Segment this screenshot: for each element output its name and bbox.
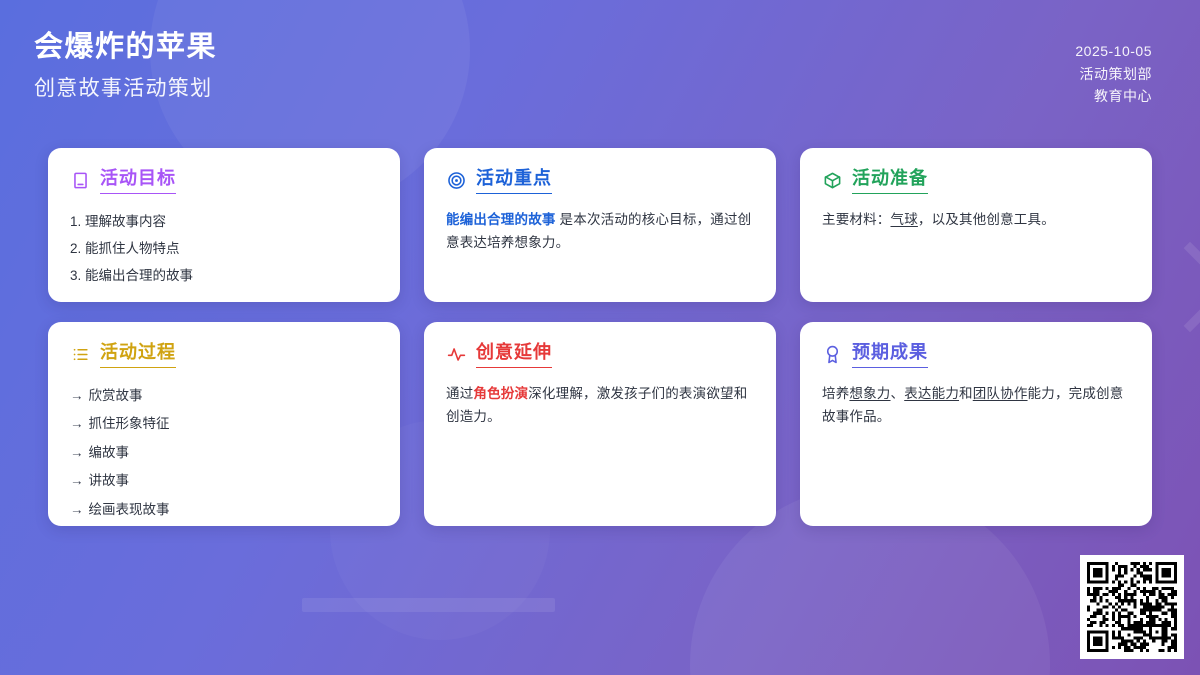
- meta-organization: 教育中心: [1075, 85, 1152, 108]
- list-item: →欣赏故事: [70, 382, 378, 411]
- card-body: 通过角色扮演深化理解，激发孩子们的表演欲望和创造力。: [446, 382, 754, 429]
- card-header: 活动准备: [822, 168, 1130, 194]
- card-header: 预期成果: [822, 342, 1130, 368]
- card-title: 活动过程: [100, 342, 176, 368]
- card-process[interactable]: 活动过程 →欣赏故事 →抓住形象特征 →编故事 →讲故事 →绘画表现故事: [48, 322, 400, 526]
- list-item-label: 绘画表现故事: [89, 502, 170, 517]
- underlined-term: 想象力: [849, 386, 890, 401]
- award-icon: [822, 344, 843, 365]
- body-text-3: 和: [959, 386, 973, 401]
- card-grid: 活动目标 1. 理解故事内容 2. 能抓住人物特点 3. 能编出合理的故事 活动…: [48, 148, 1152, 526]
- arrow-icon: →: [70, 473, 84, 488]
- target-icon: [446, 170, 467, 191]
- page-subtitle: 创意故事活动策划: [34, 75, 217, 102]
- list-item: 1. 理解故事内容: [70, 208, 378, 235]
- body-text-after: ，以及其他创意工具。: [918, 212, 1055, 227]
- meta-department: 活动策划部: [1075, 63, 1152, 86]
- card-objectives[interactable]: 活动目标 1. 理解故事内容 2. 能抓住人物特点 3. 能编出合理的故事: [48, 148, 400, 302]
- list-item-label: 编故事: [89, 445, 130, 460]
- activity-pulse-icon: [446, 344, 467, 365]
- book-icon: [70, 170, 91, 191]
- objectives-list: 1. 理解故事内容 2. 能抓住人物特点 3. 能编出合理的故事: [70, 208, 378, 289]
- card-outcomes[interactable]: 预期成果 培养想象力、表达能力和团队协作能力，完成创意故事作品。: [800, 322, 1152, 526]
- list-icon: [70, 344, 91, 365]
- underlined-term: 团队协作: [973, 386, 1028, 401]
- body-text-before: 通过: [446, 386, 473, 401]
- body-text-before: 主要材料：: [822, 212, 891, 227]
- meta-date: 2025-10-05: [1075, 40, 1152, 63]
- underlined-term: 气球: [891, 212, 918, 227]
- list-item: →编故事: [70, 439, 378, 468]
- list-item: →讲故事: [70, 467, 378, 496]
- card-title: 活动目标: [100, 168, 176, 194]
- chevron-right-icon: [1145, 242, 1200, 333]
- list-item: →抓住形象特征: [70, 410, 378, 439]
- card-body: 培养想象力、表达能力和团队协作能力，完成创意故事作品。: [822, 382, 1130, 429]
- header-title-group: 会爆炸的苹果 创意故事活动策划: [32, 28, 217, 102]
- list-item-label: 讲故事: [89, 473, 130, 488]
- slide-header: 会爆炸的苹果 创意故事活动策划 2025-10-05 活动策划部 教育中心: [0, 0, 1200, 128]
- card-header: 活动重点: [446, 168, 754, 194]
- package-icon: [822, 170, 843, 191]
- card-title: 活动准备: [852, 168, 928, 194]
- list-item: 3. 能编出合理的故事: [70, 262, 378, 289]
- page-title: 会爆炸的苹果: [34, 28, 217, 67]
- header-meta: 2025-10-05 活动策划部 教育中心: [1075, 28, 1152, 108]
- list-item: →绘画表现故事: [70, 496, 378, 525]
- process-list: →欣赏故事 →抓住形象特征 →编故事 →讲故事 →绘画表现故事: [70, 382, 378, 525]
- underlined-term: 表达能力: [904, 386, 959, 401]
- body-text-1: 培养: [822, 386, 849, 401]
- card-header: 活动目标: [70, 168, 378, 194]
- arrow-icon: →: [70, 416, 84, 431]
- decorative-bar: [302, 598, 555, 612]
- list-item-label: 抓住形象特征: [89, 416, 170, 431]
- highlight-text: 角色扮演: [473, 386, 528, 401]
- card-title: 创意延伸: [476, 342, 552, 368]
- qr-code-image: [1087, 562, 1177, 652]
- arrow-icon: →: [70, 388, 84, 403]
- qr-code[interactable]: [1080, 555, 1184, 659]
- list-item: 2. 能抓住人物特点: [70, 235, 378, 262]
- card-body: 主要材料：气球，以及其他创意工具。: [822, 208, 1130, 232]
- slide-root: 会爆炸的苹果 创意故事活动策划 2025-10-05 活动策划部 教育中心 活动…: [0, 0, 1200, 675]
- card-preparation[interactable]: 活动准备 主要材料：气球，以及其他创意工具。: [800, 148, 1152, 302]
- card-key-points[interactable]: 活动重点 能编出合理的故事 是本次活动的核心目标，通过创意表达培养想象力。: [424, 148, 776, 302]
- card-extension[interactable]: 创意延伸 通过角色扮演深化理解，激发孩子们的表演欲望和创造力。: [424, 322, 776, 526]
- card-title: 活动重点: [476, 168, 552, 194]
- card-body: 能编出合理的故事 是本次活动的核心目标，通过创意表达培养想象力。: [446, 208, 754, 255]
- arrow-icon: →: [70, 502, 84, 517]
- body-text-2: 、: [891, 386, 905, 401]
- card-title: 预期成果: [852, 342, 928, 368]
- card-header: 活动过程: [70, 342, 378, 368]
- card-header: 创意延伸: [446, 342, 754, 368]
- list-item-label: 欣赏故事: [89, 388, 143, 403]
- highlight-text: 能编出合理的故事: [446, 212, 556, 227]
- arrow-icon: →: [70, 445, 84, 460]
